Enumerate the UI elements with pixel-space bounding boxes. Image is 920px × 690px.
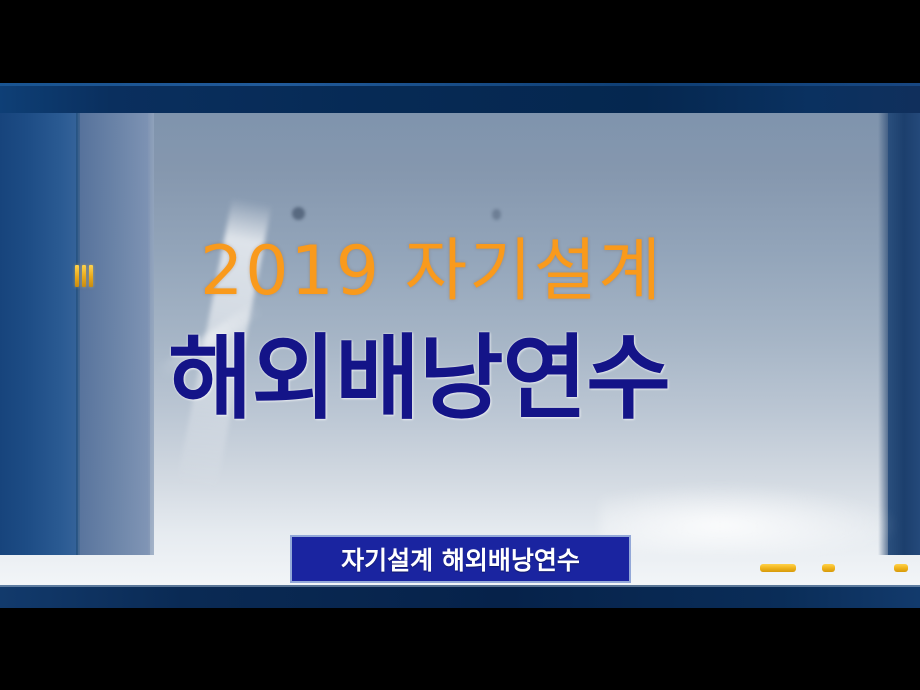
gold-dash-marker: [822, 564, 835, 572]
vent-tick-icon: [75, 265, 79, 287]
lens-speck: [492, 209, 501, 220]
letterbox-bottom: [0, 608, 920, 690]
gold-dash-marker: [894, 564, 908, 572]
letterbox-top: [0, 0, 920, 83]
vent-tick-icon: [82, 265, 86, 287]
video-frame: 2019 자기설계 해외배낭연수 자기설계 해외배낭연수: [0, 0, 920, 690]
video-content-area: 2019 자기설계 해외배낭연수 자기설계 해외배낭연수: [0, 83, 920, 608]
vent-tick-icon: [89, 265, 93, 287]
footer-band: [0, 585, 920, 608]
cloud-wisp: [600, 483, 900, 553]
lens-speck: [292, 207, 305, 220]
vent-ticks-icon: [75, 265, 93, 287]
gold-dash-marker: [760, 564, 796, 572]
window-frame-left: [80, 83, 150, 555]
header-band-highlight: [0, 83, 920, 86]
footer-band-highlight: [0, 585, 920, 587]
caption-bar: 자기설계 해외배낭연수: [290, 535, 631, 583]
cabin-panel-outer: [0, 83, 60, 555]
header-band: [0, 83, 920, 113]
caption-text: 자기설계 해외배낭연수: [341, 541, 580, 577]
window-frame-left-edge: [148, 83, 154, 555]
